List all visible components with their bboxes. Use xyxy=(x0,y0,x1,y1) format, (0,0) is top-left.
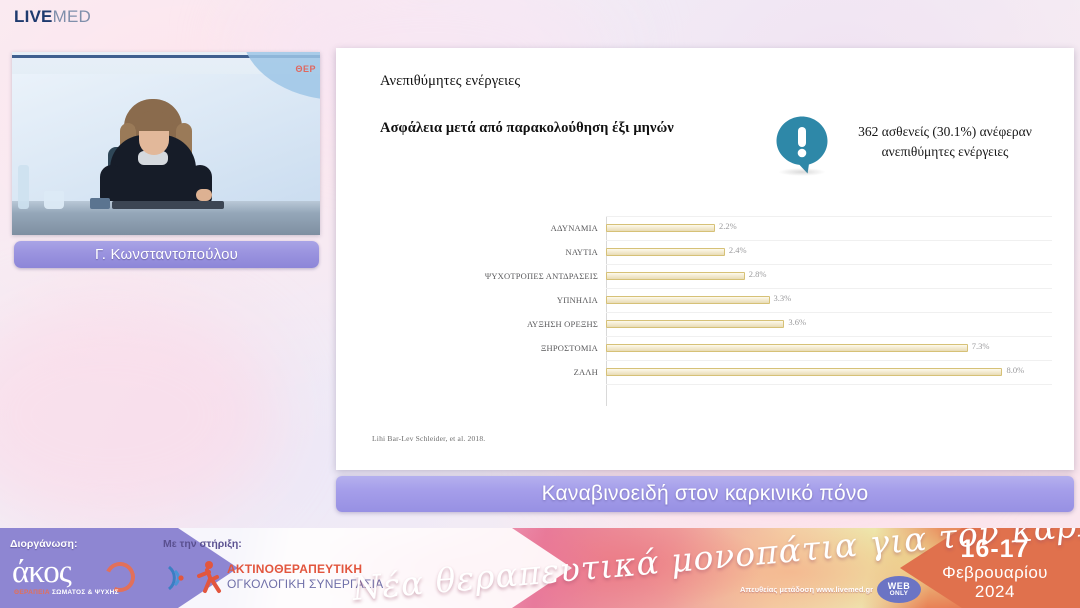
akos-wordmark: άκος xyxy=(12,556,71,589)
chart-value-label: 3.3% xyxy=(774,293,792,303)
chart-bar-row: ΑΥΞΗΣΗ ΟΡΕΞΗΣ3.6% xyxy=(362,312,1052,336)
akos-logo: άκος ΘΕΡΑΠΕΙΑ ΣΩΜΑΤΟΣ & ΨΥΧΗΣ xyxy=(12,556,142,600)
chart-bar xyxy=(606,320,784,328)
slide-citation: Lihi Bar-Lev Schleider, et al. 2018. xyxy=(372,434,485,443)
chart-category-label: ΑΥΞΗΣΗ ΟΡΕΞΗΣ xyxy=(362,319,606,329)
chart-bar xyxy=(606,248,725,256)
water-bottle xyxy=(18,165,29,209)
chart-category-label: ΞΗΡΟΣΤΟΜΙΑ xyxy=(362,343,606,353)
callout-text: 362 ασθενείς (30.1%) ανέφεραν ανεπιθύμητ… xyxy=(844,122,1046,161)
drinking-glass xyxy=(44,191,64,209)
video-overlay-text: ΘΕΡ xyxy=(295,64,316,74)
chart-gridline xyxy=(606,384,1052,385)
web-only-line2: ONLY xyxy=(890,591,909,598)
event-date-month: Φεβρουαρίου xyxy=(920,563,1070,582)
chart-bar-track: 2.4% xyxy=(606,240,1052,264)
chart-category-label: ΖΑΛΗ xyxy=(362,367,606,377)
livemed-logo: LIVEMED xyxy=(14,8,91,25)
background-blob xyxy=(0,300,280,530)
chart-bar-row: ΖΑΛΗ8.0% xyxy=(362,360,1052,384)
chart-bar-track: 3.6% xyxy=(606,312,1052,336)
section-title-label: Καναβινοειδή στον καρκινικό πόνο xyxy=(542,482,869,506)
chart-bar xyxy=(606,296,770,304)
chart-bar xyxy=(606,344,968,352)
stream-info-text: Απευθείας μετάδοση www.livemed.gr xyxy=(740,585,873,594)
chart-category-label: ΝΑΥΤΙΑ xyxy=(362,247,606,257)
slide-subheading: Ασφάλεια μετά από παρακολούθηση έξι μηνώ… xyxy=(380,120,674,137)
chart-bar-row: ΞΗΡΟΣΤΟΜΙΑ7.3% xyxy=(362,336,1052,360)
event-date: 16-17 Φεβρουαρίου 2024 xyxy=(920,535,1070,601)
chart-gridline xyxy=(606,264,1052,265)
event-date-year: 2024 xyxy=(920,582,1070,601)
chart-value-label: 2.4% xyxy=(729,245,747,255)
chart-bar-row: ΝΑΥΤΙΑ2.4% xyxy=(362,240,1052,264)
chart-gridline xyxy=(606,240,1052,241)
chart-bar-row: ΑΔΥΝΑΜΙΑ2.2% xyxy=(362,216,1052,240)
akos-tagline: ΘΕΡΑΠΕΙΑ ΣΩΜΑΤΟΣ & ΨΥΧΗΣ xyxy=(14,589,119,596)
supporter-name-line1: ΑΚΤΙΝΟΘΕΡΑΠΕΥΤΙΚΗ xyxy=(227,562,362,576)
chart-category-label: ΨΥΧΟΤΡΟΠΕΣ ΑΝΤΔΡΑΣΕΙΣ xyxy=(362,271,606,281)
support-label: Με την στήριξη: xyxy=(163,538,242,550)
callout: 362 ασθενείς (30.1%) ανέφεραν ανεπιθύμητ… xyxy=(776,116,1046,212)
chart-bar-track: 8.0% xyxy=(606,360,1052,384)
event-date-day: 16-17 xyxy=(920,535,1070,563)
speaker-nameplate: Γ. Κωνσταντοπούλου xyxy=(14,241,319,268)
desk-object xyxy=(90,198,110,209)
chart-rows: ΑΔΥΝΑΜΙΑ2.2%ΝΑΥΤΙΑ2.4%ΨΥΧΟΤΡΟΠΕΣ ΑΝΤΔΡΑΣ… xyxy=(362,216,1052,384)
chart-gridline xyxy=(606,288,1052,289)
chart-gridline xyxy=(606,336,1052,337)
chart-bar xyxy=(606,224,715,232)
adverse-effects-bar-chart: ΑΔΥΝΑΜΙΑ2.2%ΝΑΥΤΙΑ2.4%ΨΥΧΟΤΡΟΠΕΣ ΑΝΤΔΡΑΣ… xyxy=(362,216,1052,406)
chart-gridline xyxy=(606,360,1052,361)
bubble-shadow xyxy=(778,168,826,176)
organizer-label: Διοργάνωση: xyxy=(10,538,77,550)
chart-value-label: 2.8% xyxy=(749,269,767,279)
exclamation-speech-bubble-icon xyxy=(776,116,828,168)
laptop xyxy=(112,201,224,209)
chart-bar-track: 2.2% xyxy=(606,216,1052,240)
chart-gridline xyxy=(606,312,1052,313)
logo-live-text: LIVE xyxy=(14,7,53,26)
chart-bar-row: ΨΥΧΟΤΡΟΠΕΣ ΑΝΤΔΡΑΣΕΙΣ2.8% xyxy=(362,264,1052,288)
logo-med-text: MED xyxy=(53,7,91,26)
speaker-hand xyxy=(196,189,212,201)
chart-category-label: ΑΔΥΝΑΜΙΑ xyxy=(362,223,606,233)
presentation-slide[interactable]: Ανεπιθύμητες ενέργειες Ασφάλεια μετά από… xyxy=(336,48,1074,470)
chart-value-label: 8.0% xyxy=(1006,365,1024,375)
chart-value-label: 7.3% xyxy=(972,341,990,351)
chart-value-label: 3.6% xyxy=(788,317,806,327)
chart-bar xyxy=(606,368,1002,376)
event-banner: Διοργάνωση: Με την στήριξη: άκος ΘΕΡΑΠΕΙ… xyxy=(0,528,1080,608)
web-only-badge: WEB ONLY xyxy=(877,576,921,603)
running-figure-icon xyxy=(189,560,223,596)
akos-tagline-b: ΣΩΜΑΤΟΣ & ΨΥΧΗΣ xyxy=(52,589,119,596)
chart-bar-track: 3.3% xyxy=(606,288,1052,312)
chart-bar xyxy=(606,272,745,280)
chart-category-label: ΥΠΝΗΛΙΑ xyxy=(362,295,606,305)
speaker-video[interactable]: ΘΕΡ xyxy=(12,52,320,235)
chart-bar-track: 7.3% xyxy=(606,336,1052,360)
akos-tagline-a: ΘΕΡΑΠΕΙΑ xyxy=(14,589,50,596)
section-title-bar: Καναβινοειδή στον καρκινικό πόνο xyxy=(336,476,1074,512)
speaker-name-label: Γ. Κωνσταντοπούλου xyxy=(95,246,238,263)
chart-bar-track: 2.8% xyxy=(606,264,1052,288)
chart-bar-row: ΥΠΝΗΛΙΑ3.3% xyxy=(362,288,1052,312)
chart-value-label: 2.2% xyxy=(719,221,737,231)
chart-gridline xyxy=(606,216,1052,217)
screen: LIVEMED ΘΕΡ Γ. Κωνσταντοπούλου Ανεπιθύμη… xyxy=(0,0,1080,608)
slide-heading: Ανεπιθύμητες ενέργειες xyxy=(380,73,520,90)
